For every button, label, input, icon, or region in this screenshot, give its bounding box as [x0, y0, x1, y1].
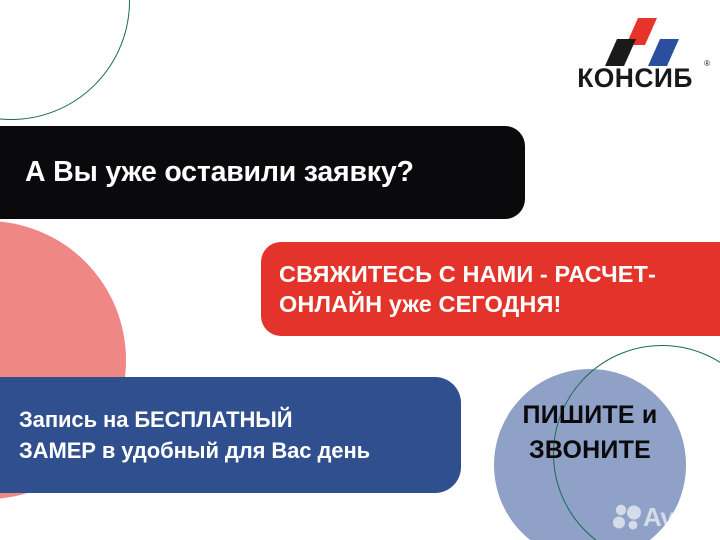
contact-banner-line-2-part-a: ОНЛАЙН — [279, 291, 382, 317]
decorative-circle-outline-top-left — [0, 0, 130, 120]
question-banner: А Вы уже оставили заявку? — [0, 126, 525, 219]
free-measurement-banner-line-2: ЗАМЕР в удобный для Вас день — [19, 435, 370, 466]
free-measurement-banner-line-1: Запись на БЕСПЛАТНЫЙ — [19, 404, 292, 435]
cta-line-1: ПИШИТЕ и — [494, 398, 686, 433]
contact-banner-line-2: ОНЛАЙН уже СЕГОДНЯ! — [279, 289, 561, 319]
contact-banner-line-2-part-light: уже — [382, 291, 438, 317]
contact-banner: СВЯЖИТЕСЬ С НАМИ - РАСЧЕТ- ОНЛАЙН уже СЕ… — [261, 242, 720, 336]
question-banner-text: А Вы уже оставили заявку? — [25, 157, 414, 188]
brand-logo: КОНСИБ ® — [561, 18, 709, 100]
contact-banner-line-2-part-b: СЕГОДНЯ! — [439, 291, 562, 317]
call-to-action-circle-text: ПИШИТЕ и ЗВОНИТЕ — [494, 398, 686, 467]
registered-trademark-icon: ® — [704, 60, 710, 68]
free-measurement-banner: Запись на БЕСПЛАТНЫЙ ЗАМЕР в удобный для… — [0, 377, 461, 493]
contact-banner-line-1: СВЯЖИТЕСЬ С НАМИ - РАСЧЕТ- — [279, 259, 656, 289]
logo-wordmark: КОНСИБ — [561, 65, 709, 92]
cta-line-2: ЗВОНИТЕ — [494, 433, 686, 468]
logo-parallelogram-mark-icon — [605, 18, 691, 66]
promo-banner-canvas: КОНСИБ ® А Вы уже оставили заявку? СВЯЖИ… — [0, 0, 720, 540]
